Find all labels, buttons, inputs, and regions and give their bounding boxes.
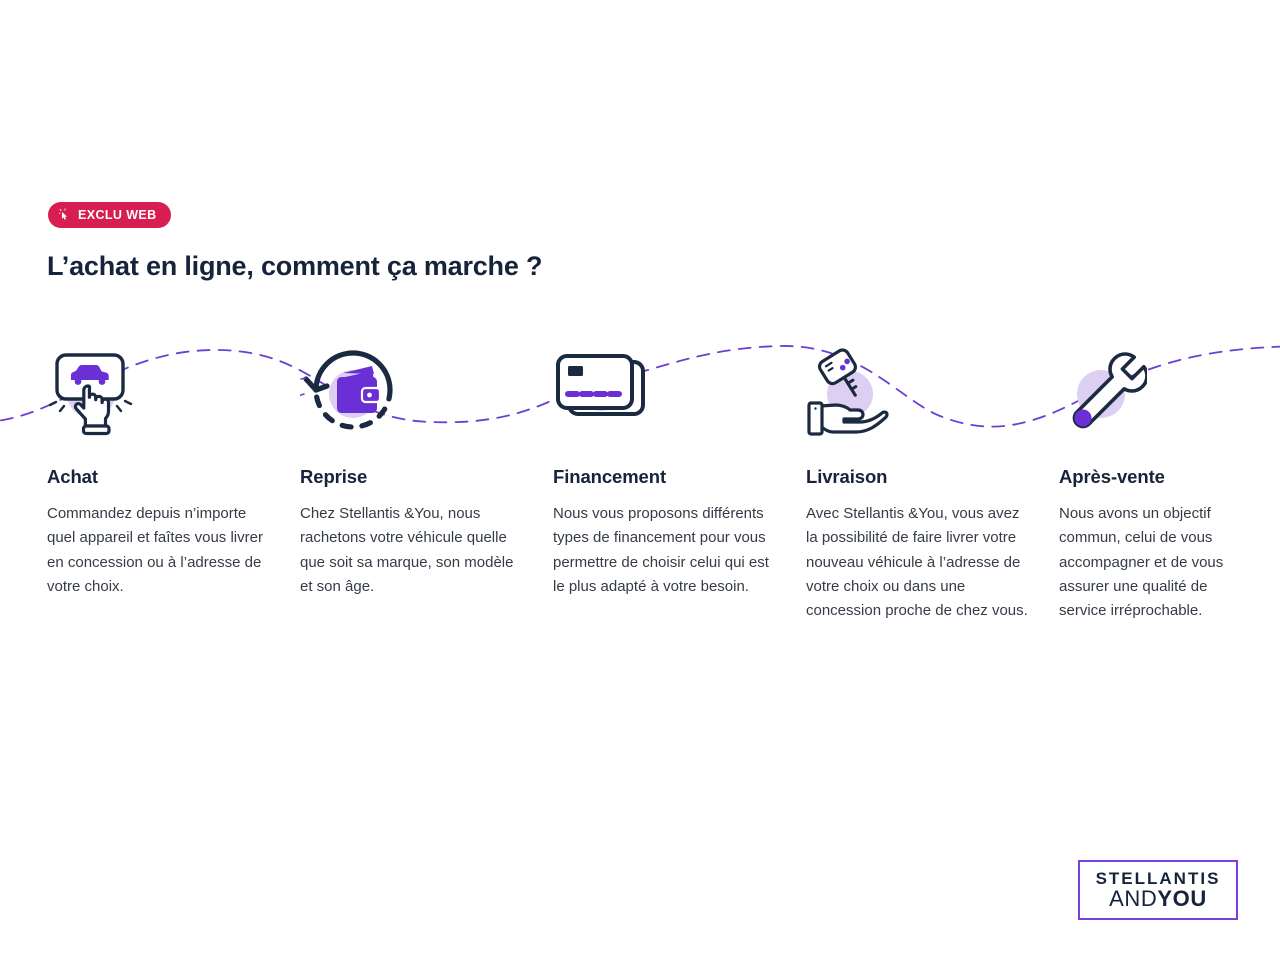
- hand-tap-car-screen-icon: [47, 344, 139, 436]
- step-achat-title: Achat: [47, 466, 300, 488]
- step-achat: Achat Commandez depuis n’importe quel ap…: [47, 344, 300, 624]
- step-apres-vente-description: Nous avons un objectif commun, celui de …: [1059, 502, 1259, 623]
- step-achat-description: Commandez depuis n’importe quel appareil…: [47, 502, 269, 599]
- step-apres-vente-icon-wrap: [1059, 344, 1159, 436]
- step-livraison-description: Avec Stellantis &You, vous avez la possi…: [806, 502, 1032, 623]
- step-reprise-icon-wrap: [300, 344, 400, 436]
- page-root: EXCLU WEB L’achat en ligne, comment ça m…: [0, 0, 1280, 960]
- step-financement-description: Nous vous proposons différents types de …: [553, 502, 775, 599]
- step-reprise: Reprise Chez Stellantis &You, nous rache…: [300, 344, 553, 624]
- stellantis-and-you-logo: STELLANTIS ANDYOU: [1078, 860, 1238, 920]
- exclu-web-badge: EXCLU WEB: [48, 202, 171, 228]
- logo-you-text: YOU: [1157, 886, 1206, 911]
- step-livraison-title: Livraison: [806, 466, 1059, 488]
- circular-arrow-wallet-icon: [300, 344, 398, 436]
- step-apres-vente: Après-vente Nous avons un objectif commu…: [1059, 344, 1280, 624]
- page-title: L’achat en ligne, comment ça marche ?: [47, 250, 542, 282]
- credit-cards-icon: [553, 349, 651, 431]
- step-achat-icon-wrap: [47, 344, 147, 436]
- hand-holding-car-key-icon: [806, 344, 894, 436]
- step-reprise-description: Chez Stellantis &You, nous rachetons vot…: [300, 502, 522, 599]
- click-cursor-icon: [59, 208, 72, 222]
- step-financement-title: Financement: [553, 466, 806, 488]
- steps-row: Achat Commandez depuis n’importe quel ap…: [47, 344, 1280, 624]
- logo-line-stellantis: STELLANTIS: [1096, 870, 1221, 888]
- exclu-web-badge-label: EXCLU WEB: [78, 209, 157, 222]
- step-reprise-title: Reprise: [300, 466, 553, 488]
- step-financement-icon-wrap: [553, 344, 653, 436]
- logo-and-text: AND: [1109, 886, 1157, 911]
- step-livraison-icon-wrap: [806, 344, 906, 436]
- logo-line-andyou: ANDYOU: [1109, 887, 1207, 910]
- wrench-icon: [1059, 344, 1147, 436]
- step-livraison: Livraison Avec Stellantis &You, vous ave…: [806, 344, 1059, 624]
- step-apres-vente-title: Après-vente: [1059, 466, 1280, 488]
- step-financement: Financement Nous vous proposons différen…: [553, 344, 806, 624]
